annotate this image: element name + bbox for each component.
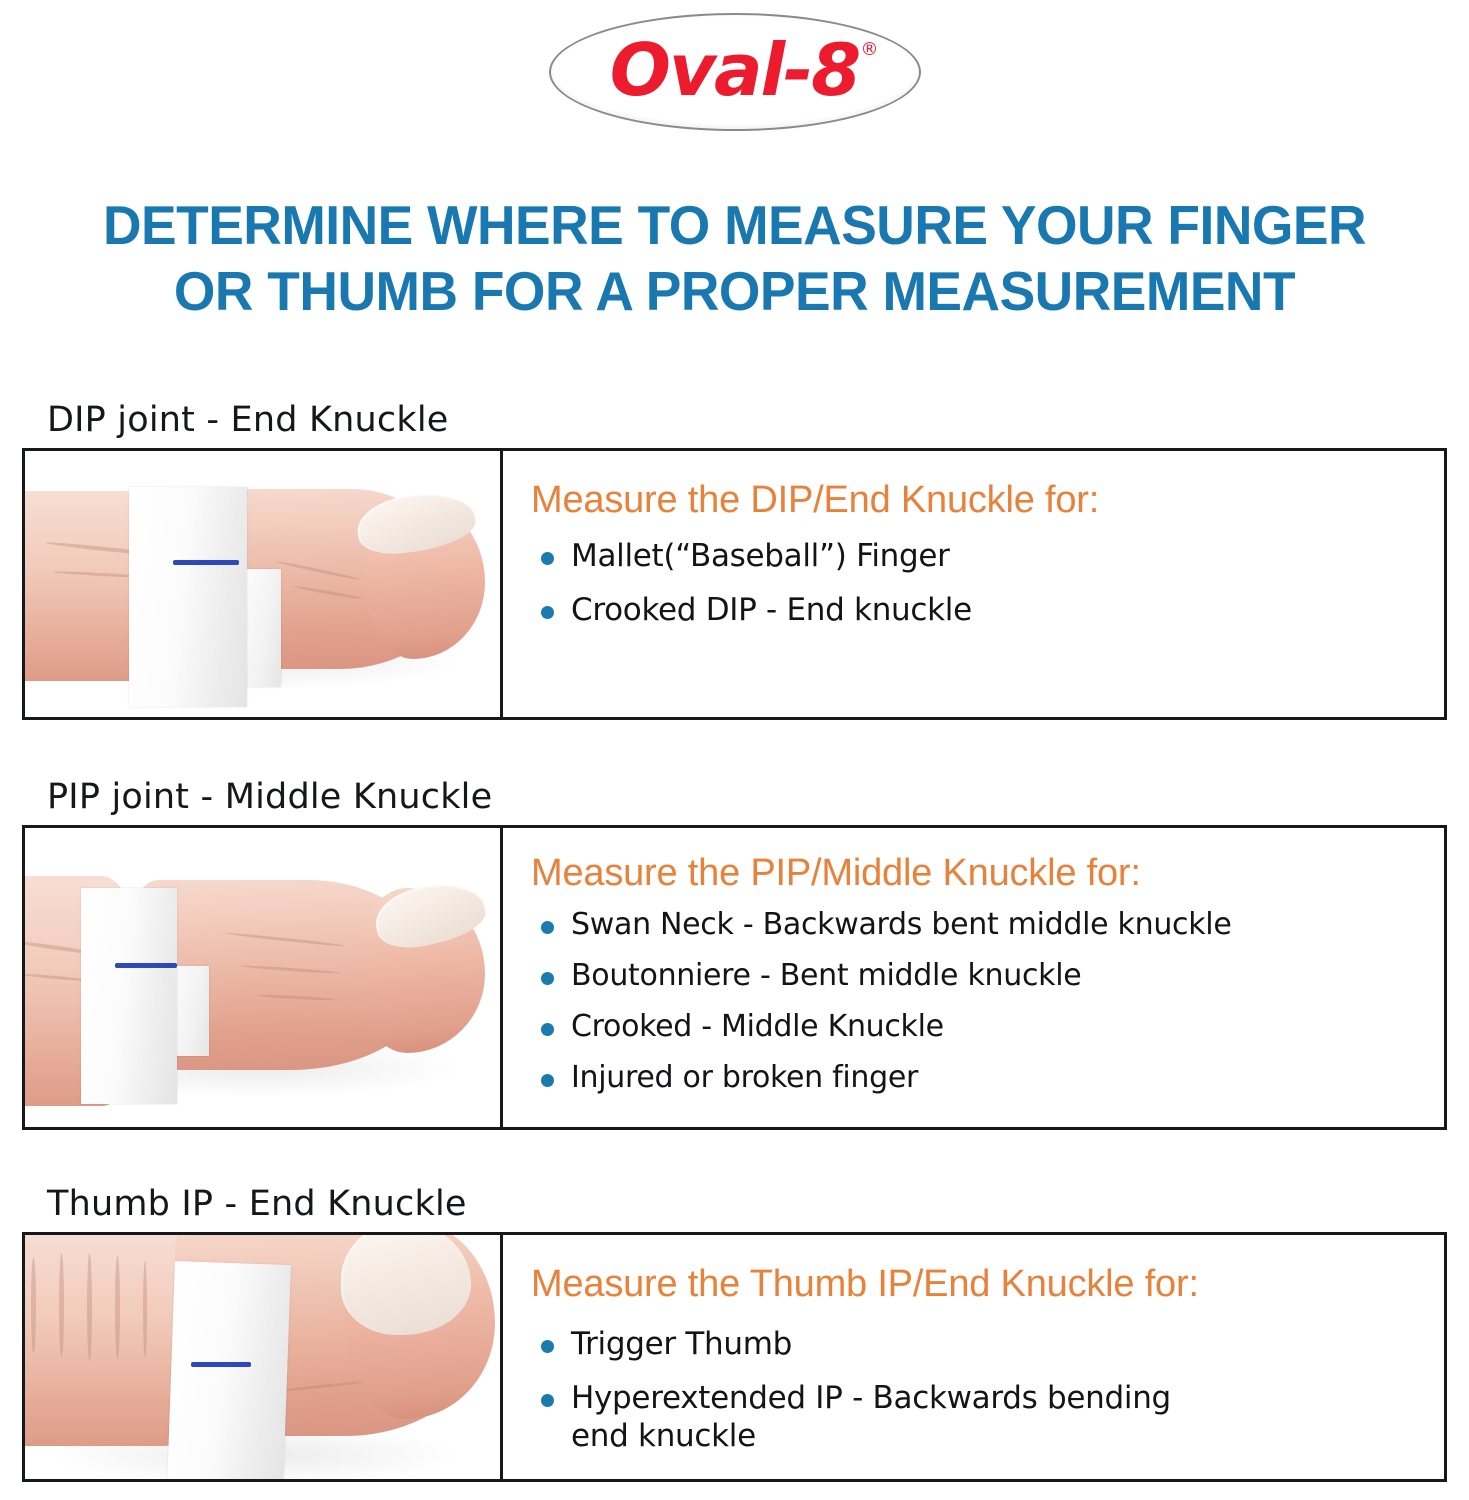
measuring-strip-pip: [81, 888, 177, 1104]
measure-heading-thumb-ip: Measure the Thumb IP/End Knuckle for:: [531, 1261, 1424, 1307]
measure-heading-dip: Measure the DIP/End Knuckle for:: [531, 477, 1424, 523]
section-table-dip: Measure the DIP/End Knuckle for: Mallet(…: [22, 448, 1447, 720]
brand-name: Oval-8: [610, 34, 859, 106]
photo-cell-thumb-ip: [25, 1235, 503, 1479]
section-dip: DIP joint - End Knuckle: [22, 398, 1447, 720]
condition-list-pip: Swan Neck - Backwards bent middle knuckl…: [531, 906, 1424, 1097]
measure-heading-pip: Measure the PIP/Middle Knuckle for:: [531, 850, 1424, 896]
page-title-line-2: OR THUMB FOR A PROPER MEASUREMENT: [22, 258, 1447, 324]
thumb-photo-ip: [25, 1235, 500, 1479]
measurement-line-pip: [115, 963, 177, 968]
list-item: Injured or broken finger: [531, 1059, 1424, 1097]
section-table-pip: Measure the PIP/Middle Knuckle for: Swan…: [22, 825, 1447, 1130]
list-item: Boutonniere - Bent middle knuckle: [531, 957, 1424, 995]
list-item: Hyperextended IP - Backwards bending end…: [531, 1379, 1424, 1455]
page-title-line-1: DETERMINE WHERE TO MEASURE YOUR FINGER: [22, 192, 1447, 258]
list-item: Crooked DIP - End knuckle: [531, 591, 1424, 629]
section-thumb-ip: Thumb IP - End Knuckle: [22, 1182, 1447, 1482]
list-item: Mallet(“Baseball”) Finger: [531, 537, 1424, 575]
list-item: Trigger Thumb: [531, 1325, 1424, 1363]
text-cell-pip: Measure the PIP/Middle Knuckle for: Swan…: [503, 828, 1444, 1127]
page-title: DETERMINE WHERE TO MEASURE YOUR FINGER O…: [22, 192, 1447, 324]
finger-photo-dip: [25, 451, 500, 717]
section-pip: PIP joint - Middle Knuckle: [22, 775, 1447, 1130]
measuring-strip-tab-dip: [243, 569, 281, 687]
infographic-page: Oval-8 ® DETERMINE WHERE TO MEASURE YOUR…: [0, 0, 1469, 1500]
measuring-strip-thumb: [167, 1261, 291, 1479]
brand-logo: Oval-8 ®: [0, 8, 1469, 136]
list-item: Crooked - Middle Knuckle: [531, 1008, 1424, 1046]
condition-list-dip: Mallet(“Baseball”) Finger Crooked DIP - …: [531, 537, 1424, 629]
measuring-strip-dip: [129, 487, 247, 707]
list-item: Swan Neck - Backwards bent middle knuckl…: [531, 906, 1424, 944]
oval-outline-icon: Oval-8 ®: [549, 13, 921, 131]
text-cell-dip: Measure the DIP/End Knuckle for: Mallet(…: [503, 451, 1444, 717]
section-label-thumb-ip: Thumb IP - End Knuckle: [22, 1182, 1447, 1226]
condition-list-thumb-ip: Trigger Thumb Hyperextended IP - Backwar…: [531, 1325, 1424, 1455]
finger-photo-pip: [25, 828, 500, 1127]
photo-cell-pip: [25, 828, 503, 1127]
section-label-dip: DIP joint - End Knuckle: [22, 398, 1447, 442]
text-cell-thumb-ip: Measure the Thumb IP/End Knuckle for: Tr…: [503, 1235, 1444, 1479]
measurement-line-dip: [173, 560, 239, 565]
section-label-pip: PIP joint - Middle Knuckle: [22, 775, 1447, 819]
registered-trademark-icon: ®: [861, 39, 879, 60]
measurement-line-thumb: [191, 1362, 251, 1367]
section-table-thumb-ip: Measure the Thumb IP/End Knuckle for: Tr…: [22, 1232, 1447, 1482]
photo-cell-dip: [25, 451, 503, 717]
